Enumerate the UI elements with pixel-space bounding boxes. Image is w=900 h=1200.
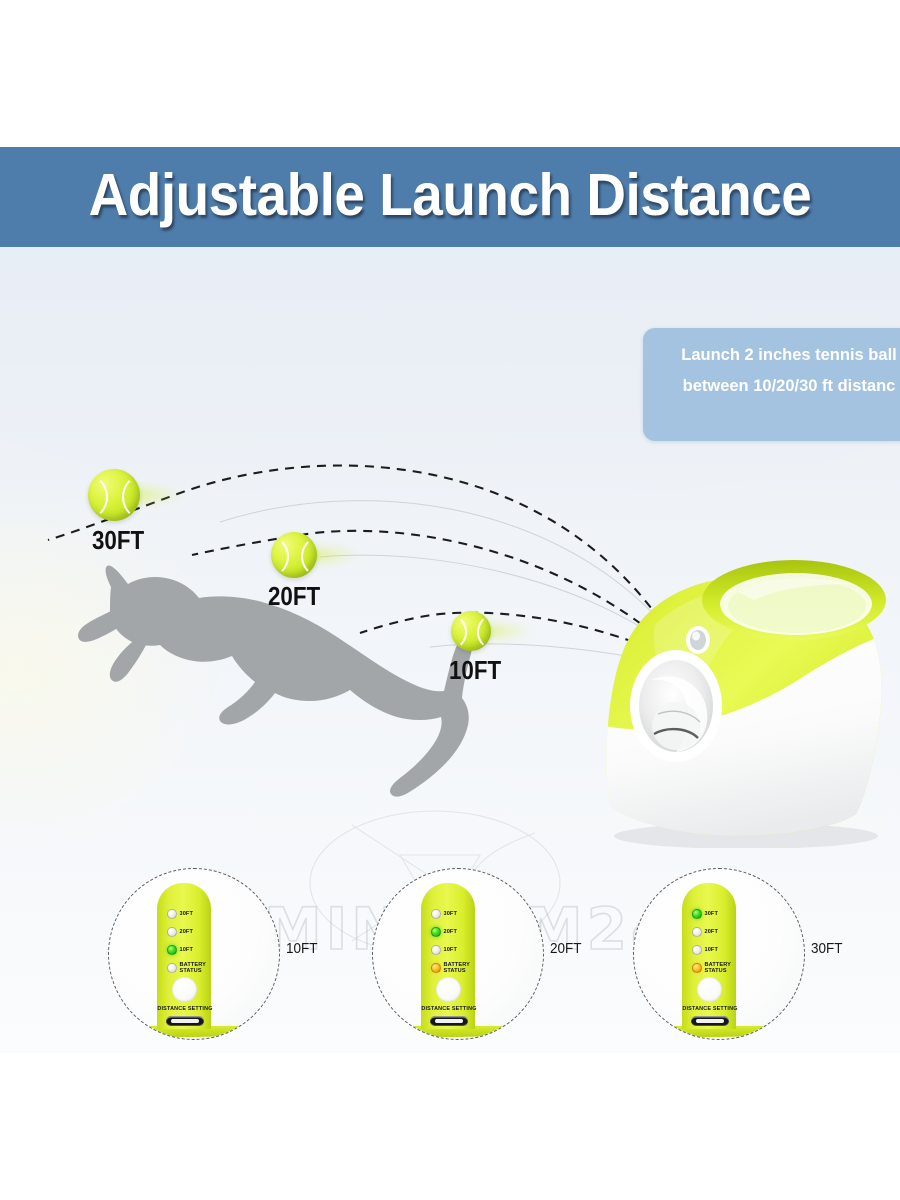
led-indicator-battery [692, 963, 702, 973]
inset-20ft: 30FT 20FT 10FT BATTERY STATUS [364, 860, 626, 1055]
led-row-10ft: 10FT [692, 945, 718, 955]
led-label-battery: BATTERY STATUS [180, 962, 207, 974]
inset-caption-10ft: 10FT [286, 940, 318, 957]
control-panel-insets: 30FT 20FT 10FT BATTERY STATUS [0, 860, 900, 1055]
led-label-battery: BATTERY STATUS [705, 962, 732, 974]
inset-10ft: 30FT 20FT 10FT BATTERY STATUS [100, 860, 362, 1055]
tennis-ball-20ft [271, 532, 317, 578]
led-label-30ft: 30FT [444, 911, 457, 917]
led-indicator-30ft [167, 909, 177, 919]
led-label-20ft: 20FT [705, 929, 718, 935]
led-row-20ft: 20FT [431, 927, 457, 937]
distance-setting-label: DISTANCE SETTING [143, 1006, 227, 1012]
tennis-ball-10ft [451, 611, 491, 651]
led-indicator-20ft [167, 927, 177, 937]
led-row-30ft: 30FT [431, 909, 457, 919]
led-row-battery: BATTERY STATUS [167, 962, 206, 974]
inset-circle-30ft: 30FT 20FT 10FT BATTERY STATUS [633, 868, 805, 1040]
led-indicator-battery [431, 963, 441, 973]
ball-seam [88, 473, 108, 521]
usb-charging-port [166, 1016, 204, 1026]
led-label-10ft: 10FT [180, 947, 193, 953]
ball-seam [451, 613, 467, 651]
tennis-ball-30ft [88, 469, 140, 521]
callout-text: Launch 2 inches tennis ball between 10/2… [681, 346, 896, 395]
infographic-canvas: Adjustable Launch Distance MINICAM24 [0, 0, 900, 1200]
led-label-20ft: 20FT [444, 929, 457, 935]
led-row-battery: BATTERY STATUS [431, 962, 470, 974]
inset-circle-20ft: 30FT 20FT 10FT BATTERY STATUS [372, 868, 544, 1040]
led-indicator-30ft [692, 909, 702, 919]
page-title: Adjustable Launch Distance [32, 161, 869, 229]
distance-label-20ft: 20FT [268, 581, 320, 612]
distance-label-10ft: 10FT [449, 655, 501, 686]
led-indicator-10ft [431, 945, 441, 955]
inset-caption-30ft: 30FT [811, 940, 843, 957]
distance-setting-button[interactable] [697, 977, 722, 1002]
ball-seam [271, 535, 289, 578]
ball-seam [122, 473, 140, 521]
led-indicator-30ft [431, 909, 441, 919]
usb-charging-port [430, 1016, 468, 1026]
led-row-20ft: 20FT [167, 927, 193, 937]
distance-setting-label: DISTANCE SETTING [407, 1006, 491, 1012]
ball-seam [477, 613, 491, 651]
led-label-battery: BATTERY STATUS [444, 962, 471, 974]
led-label-20ft: 20FT [180, 929, 193, 935]
led-indicator-20ft [692, 927, 702, 937]
led-indicator-battery [167, 963, 177, 973]
ball-seam [301, 535, 317, 578]
led-label-30ft: 30FT [180, 911, 193, 917]
distance-setting-button[interactable] [436, 977, 461, 1002]
distance-label-30ft: 30FT [92, 525, 144, 556]
distance-setting-button[interactable] [172, 977, 197, 1002]
led-row-30ft: 30FT [692, 909, 718, 919]
callout-box: Launch 2 inches tennis ball between 10/2… [643, 328, 900, 441]
led-row-10ft: 10FT [431, 945, 457, 955]
led-row-20ft: 20FT [692, 927, 718, 937]
led-row-30ft: 30FT [167, 909, 193, 919]
ball-body [88, 469, 140, 521]
trajectory-30ft [48, 466, 678, 647]
led-label-10ft: 10FT [444, 947, 457, 953]
usb-charging-port [691, 1016, 729, 1026]
led-row-10ft: 10FT [167, 945, 193, 955]
led-indicator-10ft [167, 945, 177, 955]
led-label-10ft: 10FT [705, 947, 718, 953]
ball-body [451, 611, 491, 651]
led-label-30ft: 30FT [705, 911, 718, 917]
inset-30ft: 30FT 20FT 10FT BATTERY STATUS [625, 860, 887, 1055]
inset-caption-20ft: 20FT [550, 940, 582, 957]
inset-circle-10ft: 30FT 20FT 10FT BATTERY STATUS [108, 868, 280, 1040]
ball-body [271, 532, 317, 578]
distance-setting-label: DISTANCE SETTING [668, 1006, 752, 1012]
led-indicator-20ft [431, 927, 441, 937]
led-row-battery: BATTERY STATUS [692, 962, 731, 974]
led-indicator-10ft [692, 945, 702, 955]
ball-launcher-device [588, 548, 900, 848]
